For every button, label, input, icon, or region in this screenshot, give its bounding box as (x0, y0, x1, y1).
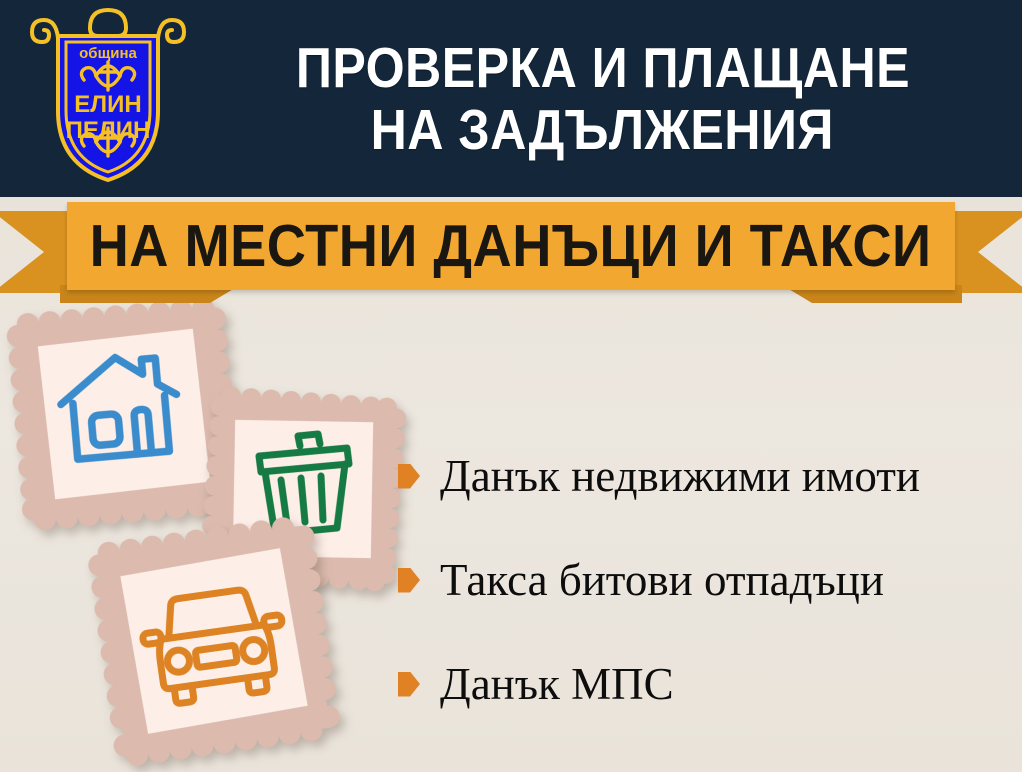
list-item[interactable]: Такса битови отпадъци (398, 528, 1013, 632)
page-title: ПРОВЕРКА И ПЛАЩАНЕ НА ЗАДЪЛЖЕНИЯ (195, 0, 1010, 197)
title-line-2: НА ЗАДЪЛЖЕНИЯ (371, 99, 834, 161)
list-item[interactable]: Данък недвижими имоти (398, 424, 1013, 528)
subtitle-ribbon: НА МЕСТНИ ДАНЪЦИ И ТАКСИ (0, 197, 1022, 309)
arrow-bullet-icon (398, 464, 420, 489)
list-item-label: Данък недвижими имоти (440, 451, 920, 501)
arrow-bullet-icon (398, 568, 420, 593)
poster: община ЕЛИН ПЕЛИН ПРОВЕРКА И ПЛАЩАНЕ НА … (0, 0, 1022, 772)
logo-caption-top: община (79, 45, 137, 62)
header-band: община ЕЛИН ПЕЛИН ПРОВЕРКА И ПЛАЩАНЕ НА … (0, 0, 1022, 197)
car-stamp-icon (85, 513, 342, 769)
municipality-logo: община ЕЛИН ПЕЛИН (28, 6, 188, 186)
obligations-list: Данък недвижими имоти Такса битови отпад… (398, 424, 1013, 736)
header-inner: община ЕЛИН ПЕЛИН ПРОВЕРКА И ПЛАЩАНЕ НА … (0, 0, 1022, 197)
logo-name-line1: ЕЛИН (74, 91, 141, 118)
ribbon-label: НА МЕСТНИ ДАНЪЦИ И ТАКСИ (90, 215, 932, 277)
list-item-label: Данък МПС (440, 659, 674, 709)
arrow-bullet-icon (398, 672, 420, 697)
ribbon-banner: НА МЕСТНИ ДАНЪЦИ И ТАКСИ (67, 202, 955, 290)
stamp-vehicle (85, 513, 342, 769)
title-line-1: ПРОВЕРКА И ПЛАЩАНЕ (295, 37, 909, 99)
list-item[interactable]: Данък МПС (398, 632, 1013, 736)
logo-name-line2: ПЕЛИН (66, 117, 151, 144)
coat-of-arms-icon: община ЕЛИН ПЕЛИН (28, 6, 188, 186)
list-item-label: Такса битови отпадъци (440, 555, 884, 605)
